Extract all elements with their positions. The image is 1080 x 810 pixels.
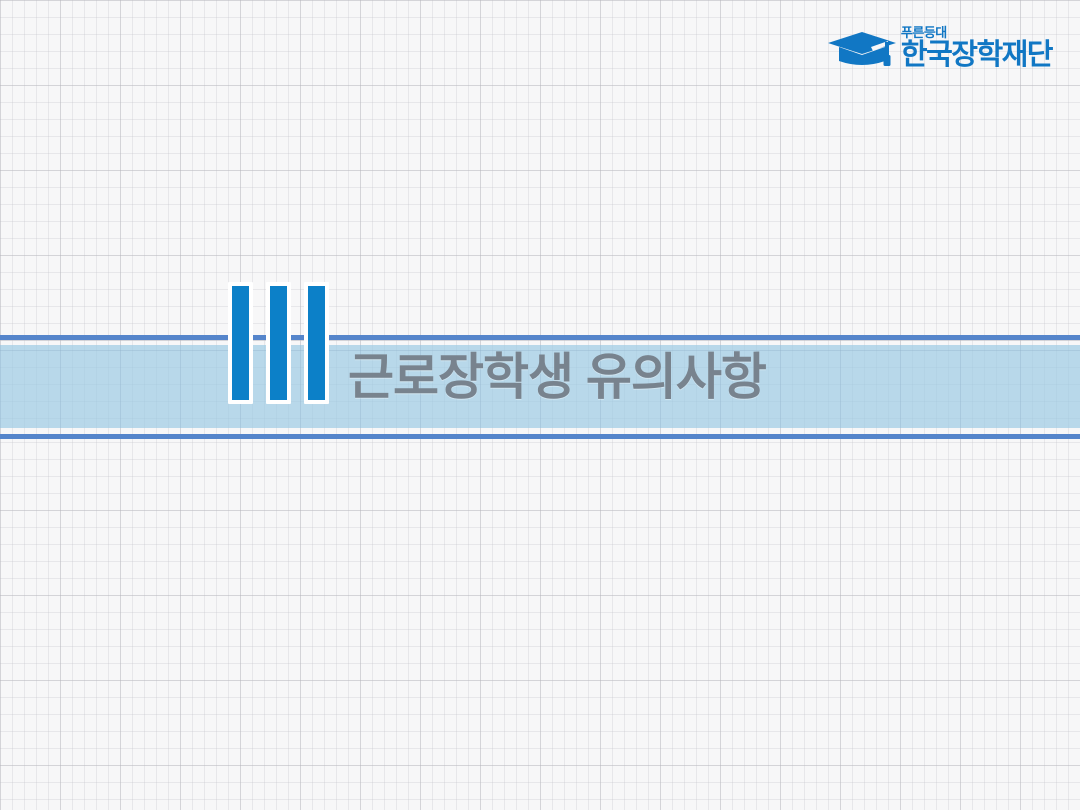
logo-main-text: 한국장학재단 (901, 41, 1052, 70)
logo-wordmark: 푸른등대 한국장학재단 (901, 26, 1052, 70)
kosaf-logo: 푸른등대 한국장학재단 (827, 22, 1052, 70)
logo-sub-text: 푸른등대 (901, 26, 947, 39)
graduation-cap-icon (827, 28, 897, 68)
section-number-bar-1 (228, 282, 253, 404)
section-number-bar-3 (304, 282, 329, 404)
section-number-bar-2 (266, 282, 291, 404)
section-title: 근로장학생 유의사항 (348, 352, 766, 402)
banner-top-rule (0, 335, 1080, 340)
slide-root: 푸른등대 한국장학재단 근로장학생 유의사항 (0, 0, 1080, 810)
section-number-iii (228, 282, 329, 400)
banner-bottom-rule (0, 434, 1080, 439)
